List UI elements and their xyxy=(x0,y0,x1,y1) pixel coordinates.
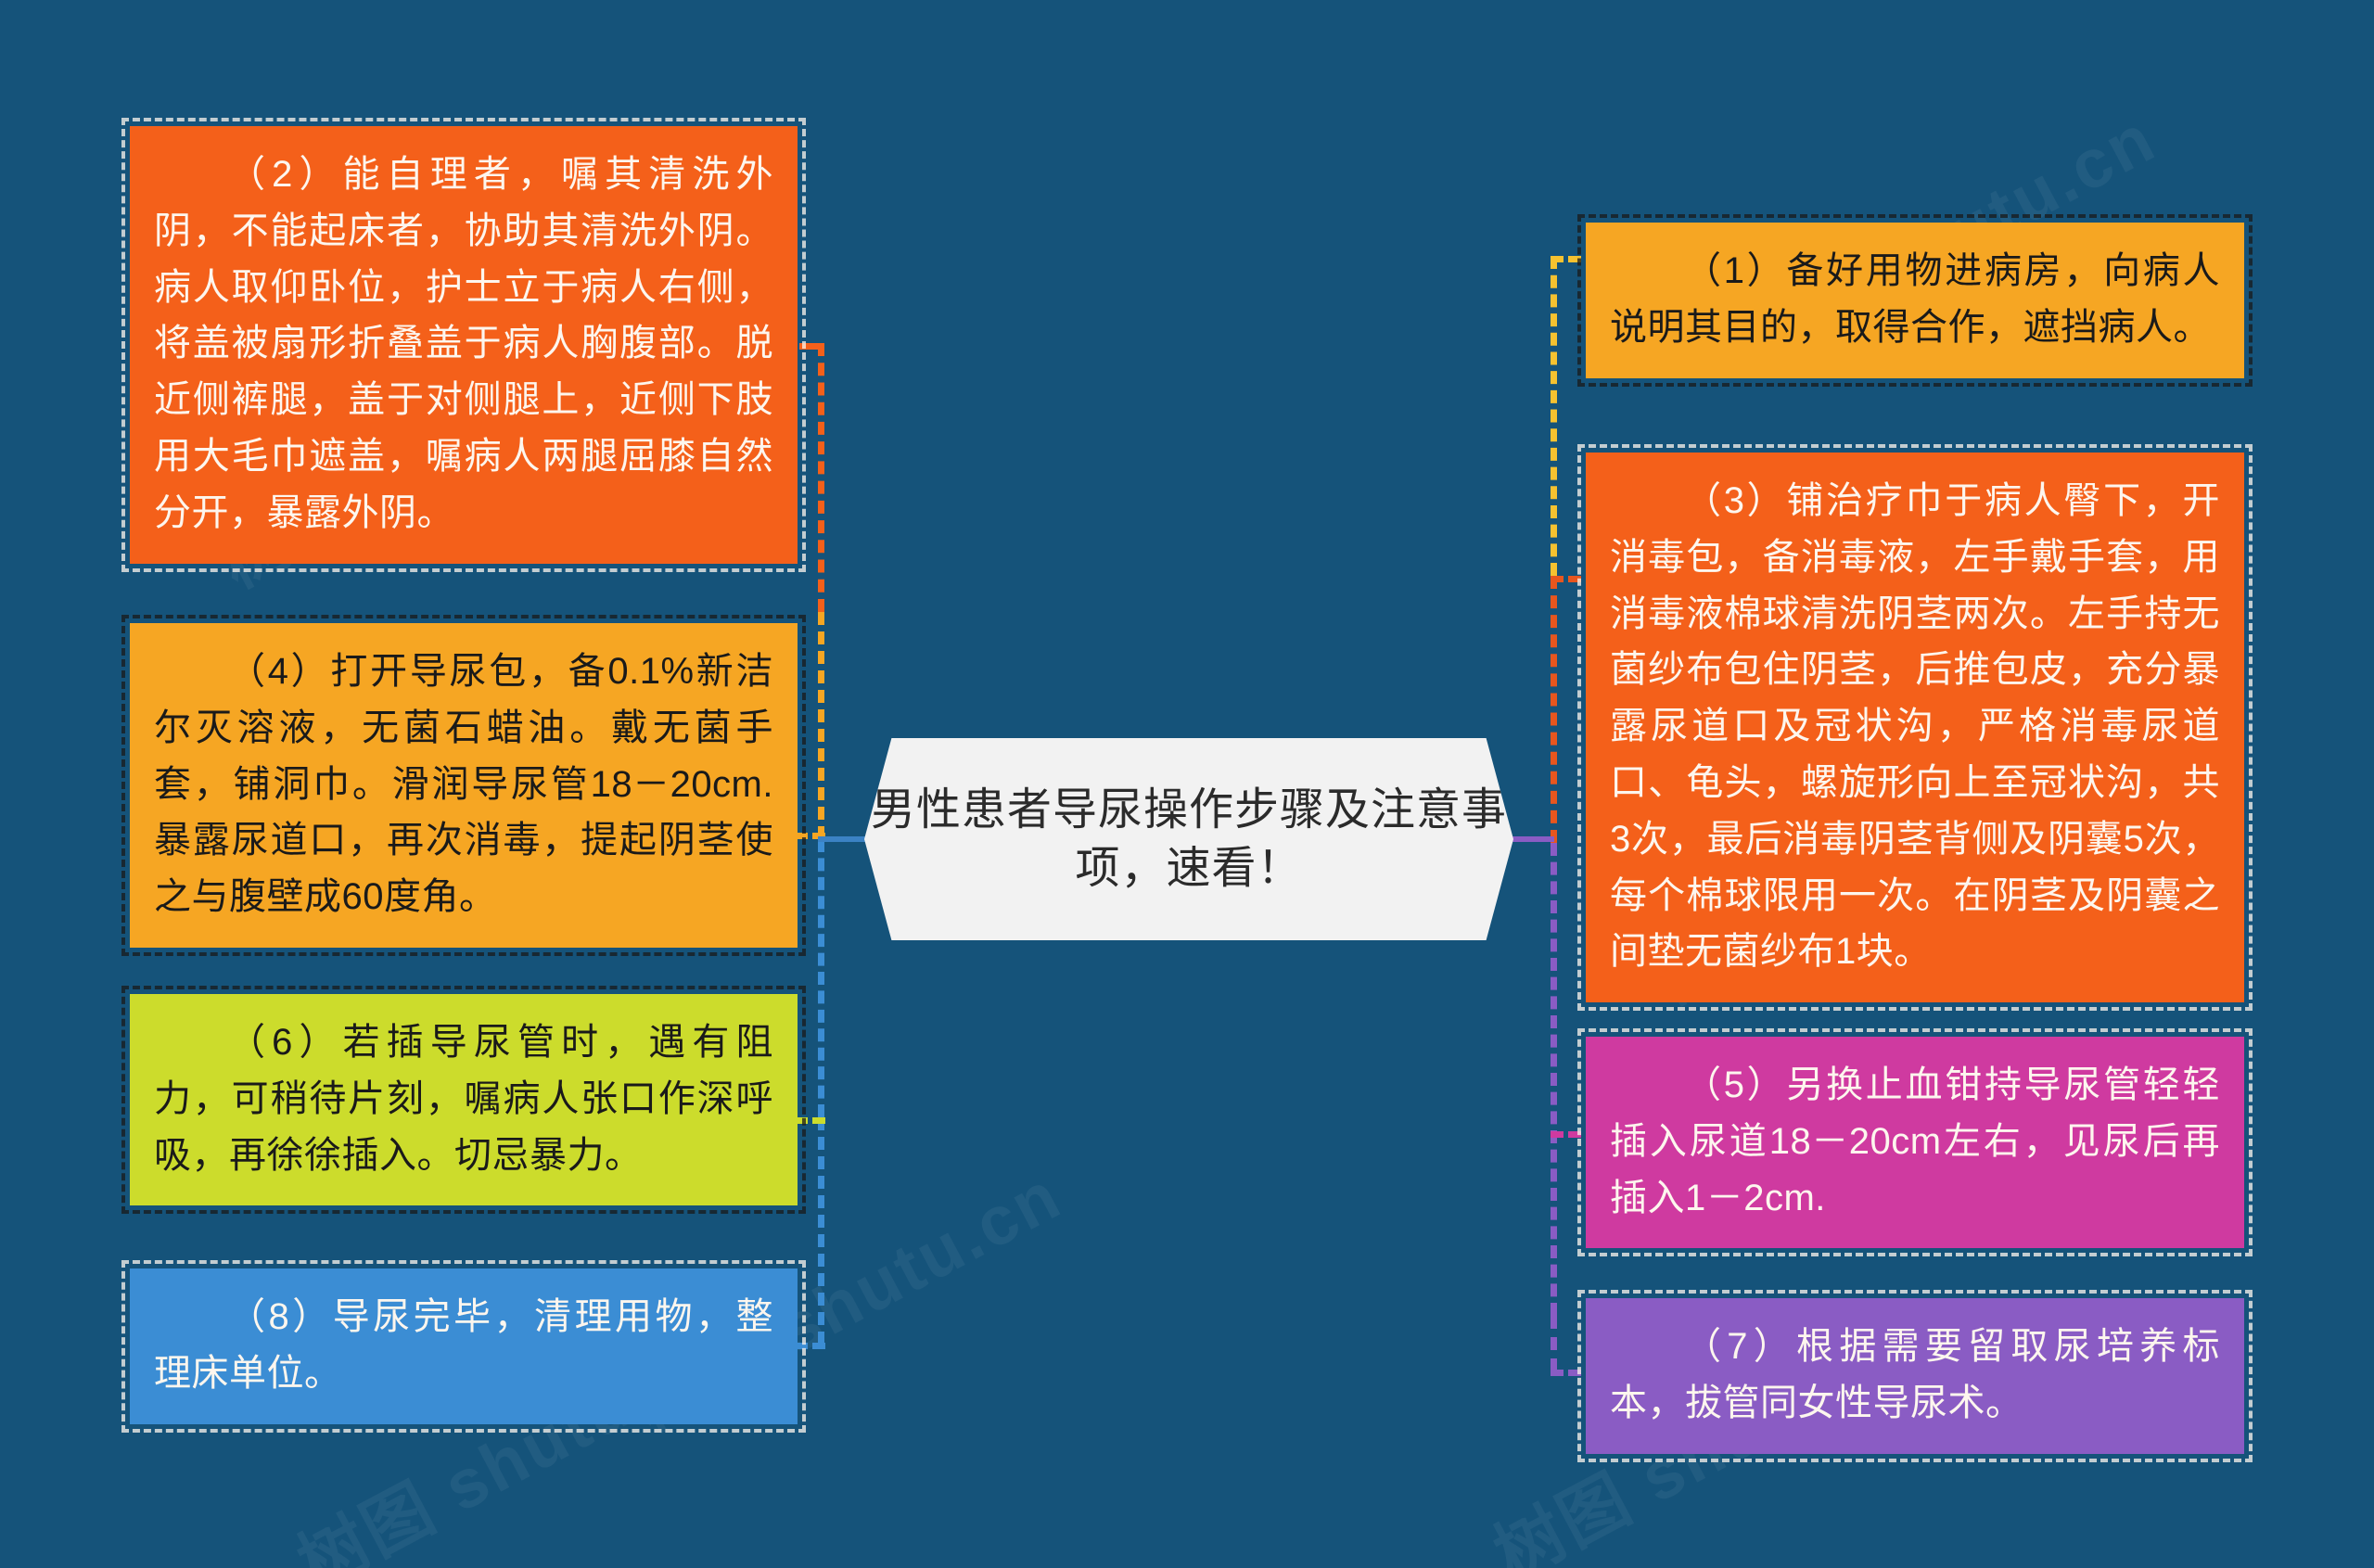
node-step-3[interactable]: （3）铺治疗巾于病人臀下，开消毒包，备消毒液，左手戴手套，用消毒液棉球清洗阴茎两… xyxy=(1586,453,2244,1002)
connector-right-spine-step1 xyxy=(1551,256,1557,576)
node-step-2[interactable]: （2）能自理者，嘱其清洗外阴，不能起床者，协助其清洗外阴。病人取仰卧位，护士立于… xyxy=(130,126,798,564)
connector-left-spine-step6 xyxy=(818,839,824,1117)
node-step-7-label: （7）根据需要留取尿培养标本，拔管同女性导尿术。 xyxy=(1610,1319,2220,1432)
node-step-4-label: （4）打开导尿包，备0.1%新洁尔灭溶液，无菌石蜡油。戴无菌手套，铺洞巾。滑润导… xyxy=(154,644,773,925)
connector-right-spine-step5 xyxy=(1551,843,1557,1316)
center-node-title: 男性患者导尿操作步骤及注意事项，速看！ xyxy=(864,781,1513,899)
node-step-5-label: （5）另换止血钳持导尿管轻轻插入尿道18－20cm左右，见尿后再插入1－2cm. xyxy=(1610,1057,2220,1226)
mindmap-canvas: 树图 shutu.cn 树图 shutu.cn 树图 shutu.cn 树图 s… xyxy=(0,0,2374,1568)
node-step-4[interactable]: （4）打开导尿包，备0.1%新洁尔灭溶液，无菌石蜡油。戴无菌手套，铺洞巾。滑润导… xyxy=(130,623,798,948)
connector-left-spine-step4 xyxy=(818,612,824,839)
node-step-1[interactable]: （1）备好用物进病房，向病人说明其目的，取得合作，遮挡病人。 xyxy=(1586,223,2244,378)
node-step-3-label: （3）铺治疗巾于病人臀下，开消毒包，备消毒液，左手戴手套，用消毒液棉球清洗阴茎两… xyxy=(1610,473,2220,980)
node-step-2-label: （2）能自理者，嘱其清洗外阴，不能起床者，协助其清洗外阴。病人取仰卧位，护士立于… xyxy=(154,147,773,542)
node-step-7[interactable]: （7）根据需要留取尿培养标本，拔管同女性导尿术。 xyxy=(1586,1298,2244,1454)
center-node[interactable]: 男性患者导尿操作步骤及注意事项，速看！ xyxy=(864,738,1513,940)
node-step-1-label: （1）备好用物进病房，向病人说明其目的，取得合作，遮挡病人。 xyxy=(1610,243,2220,356)
connector-right-spine-step3 xyxy=(1551,576,1557,843)
node-step-8-label: （8）导尿完毕，清理用物，整理床单位。 xyxy=(154,1289,773,1402)
connector-right-spine-step7 xyxy=(1551,1316,1557,1371)
node-step-8[interactable]: （8）导尿完毕，清理用物，整理床单位。 xyxy=(130,1268,798,1424)
connector-left-stub-step2 xyxy=(799,343,823,350)
connector-left-spine-step2 xyxy=(818,343,824,612)
node-step-5[interactable]: （5）另换止血钳持导尿管轻轻插入尿道18－20cm左右，见尿后再插入1－2cm. xyxy=(1586,1037,2244,1248)
node-step-6-label: （6）若插导尿管时，遇有阻力，可稍待片刻，嘱病人张口作深呼吸，再徐徐插入。切忌暴… xyxy=(154,1014,773,1183)
node-step-6[interactable]: （6）若插导尿管时，遇有阻力，可稍待片刻，嘱病人张口作深呼吸，再徐徐插入。切忌暴… xyxy=(130,994,798,1205)
connector-left-spine-step8 xyxy=(818,1117,824,1345)
